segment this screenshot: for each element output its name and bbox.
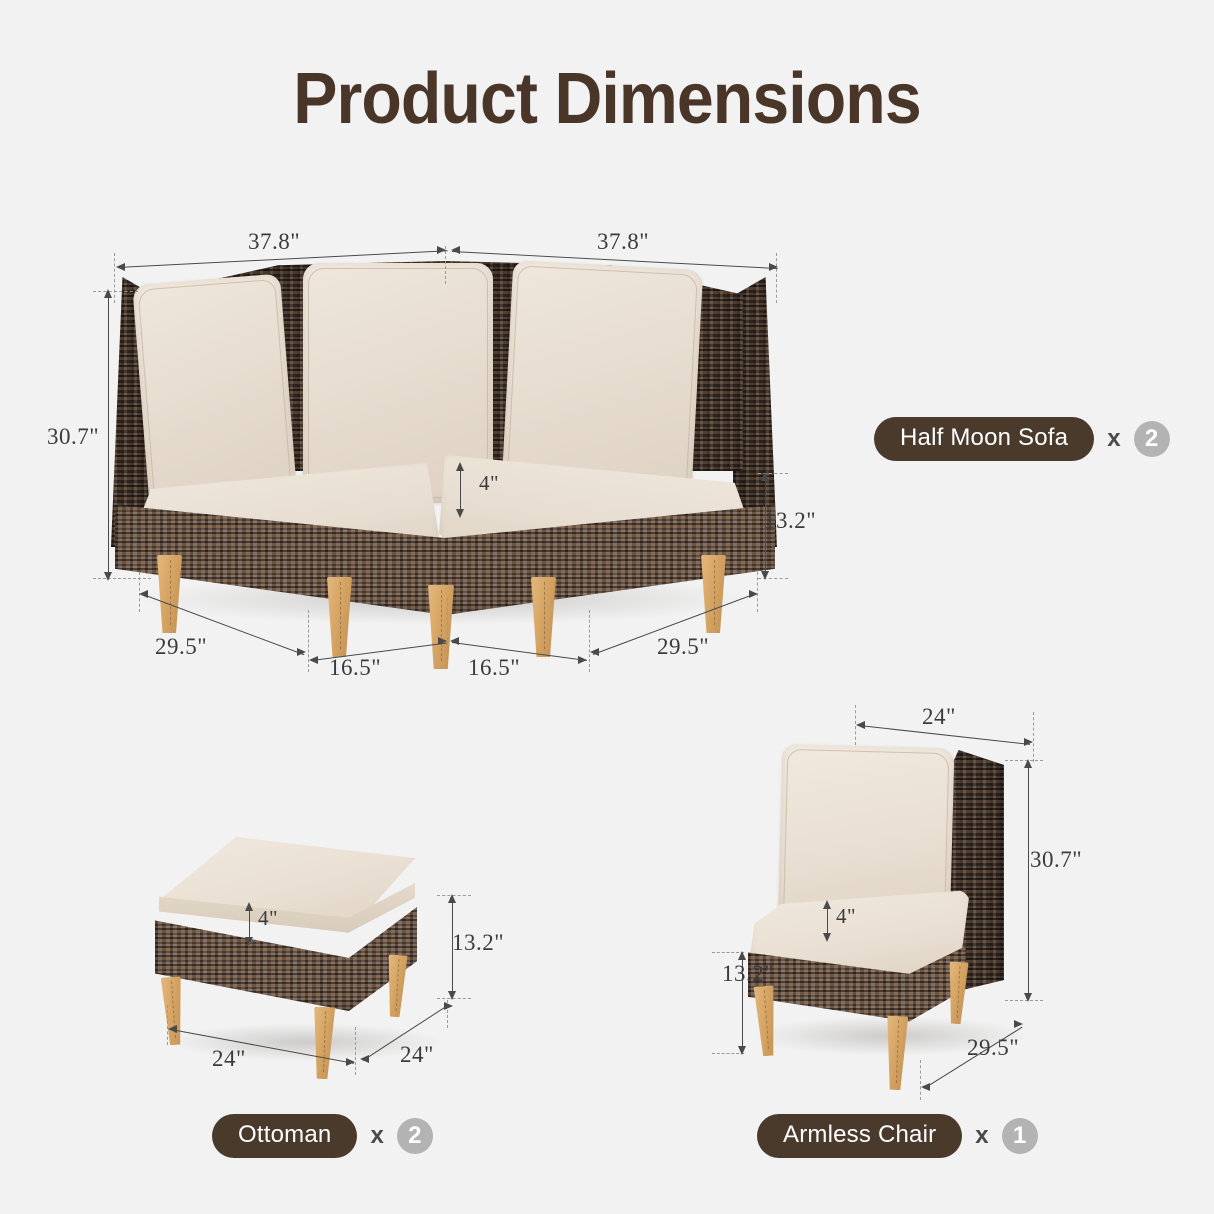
arrow-up — [448, 894, 456, 903]
chair-depth-label: 29.5" — [967, 1035, 1019, 1061]
chair-seat-height-label: 13.2" — [722, 961, 774, 987]
arrow-up — [245, 902, 253, 911]
half-moon-sofa-illustration — [95, 255, 795, 645]
arrow-left — [116, 263, 125, 271]
leg-seam — [340, 582, 341, 649]
ottoman-quantity: 2 — [397, 1118, 433, 1154]
ottoman-name-pill: Ottoman — [212, 1114, 357, 1158]
arrow-left — [360, 1055, 369, 1063]
sofa-height-line — [108, 296, 109, 574]
leg-seam — [544, 582, 545, 649]
arrow-left — [590, 648, 599, 656]
sofa-ext-bottom-inner-right — [589, 610, 590, 672]
arrow-right — [1024, 738, 1033, 746]
arrow-left — [921, 1083, 930, 1091]
sofa-ext-top-right — [776, 253, 777, 303]
arrow-up — [761, 472, 769, 481]
sofa-leg-center-left — [327, 577, 352, 657]
ottoman-cushion-line — [249, 908, 250, 940]
arrow-down — [104, 572, 112, 581]
arrow-up — [1024, 759, 1032, 768]
armless-chair-quantity: 1 — [1002, 1118, 1038, 1154]
arrow-right — [297, 648, 306, 656]
sofa-ext-height-bottom — [93, 578, 151, 579]
infographic-canvas: Product Dimensions — [0, 0, 1214, 1214]
ottoman-ext-center — [355, 1027, 356, 1075]
sofa-inner-right-label: 16.5" — [468, 655, 520, 681]
arrow-right — [346, 1058, 355, 1066]
leg-seam — [322, 1011, 325, 1071]
leg-seam — [895, 1020, 898, 1082]
arrow-up — [823, 900, 831, 909]
arrow-right — [749, 590, 758, 598]
arrow-up — [104, 289, 112, 298]
quantity-x-symbol: x — [370, 1122, 383, 1150]
leg-seam — [441, 590, 442, 661]
sofa-cushion-line — [460, 468, 461, 512]
arrow-left — [451, 246, 460, 254]
sofa-height-label: 30.7" — [47, 424, 99, 450]
arrow-right — [1014, 1020, 1023, 1028]
leg-seam — [764, 990, 769, 1049]
sofa-leg-right — [701, 555, 726, 633]
arrow-right — [444, 1002, 453, 1010]
sofa-leg-left — [157, 555, 182, 633]
arrow-left — [309, 656, 318, 664]
sofa-width-right-label: 37.8" — [597, 229, 649, 255]
ottoman-badge: Ottoman x 2 — [212, 1114, 433, 1158]
half-moon-sofa-badge: Half Moon Sofa x 2 — [874, 417, 1170, 461]
sofa-inner-left-label: 16.5" — [329, 655, 381, 681]
ottoman-width-label: 24" — [212, 1046, 246, 1072]
ottoman-cushion-label: 4" — [258, 906, 278, 931]
sofa-seat-height-label: 13.2" — [764, 508, 816, 534]
quantity-x-symbol: x — [975, 1122, 988, 1150]
ottoman-height-label: 13.2" — [452, 930, 504, 956]
arrow-left — [450, 637, 459, 645]
arrow-right — [437, 246, 446, 254]
half-moon-sofa-quantity: 2 — [1134, 421, 1170, 457]
ottoman-depth-label: 24" — [400, 1042, 434, 1068]
page-title: Product Dimensions — [49, 58, 1166, 140]
chair-height-label: 30.7" — [1030, 847, 1082, 873]
arrow-down — [448, 991, 456, 1000]
arrow-right — [578, 656, 587, 664]
leg-seam — [714, 560, 715, 626]
sofa-cushion-label: 4" — [479, 471, 499, 496]
sofa-leg-center-right — [531, 577, 556, 657]
sofa-width-left-label: 37.8" — [248, 229, 300, 255]
cushion-seam — [138, 279, 293, 509]
sofa-depth-left-label: 29.5" — [155, 634, 207, 660]
arrow-right — [438, 637, 447, 645]
leg-seam — [170, 560, 171, 626]
arrow-right — [769, 263, 778, 271]
sofa-ext-top-left — [114, 253, 115, 303]
arrow-left — [856, 721, 865, 729]
armless-chair-illustration — [740, 728, 1040, 1058]
quantity-x-symbol: x — [1107, 425, 1120, 453]
arrow-down — [738, 1046, 746, 1055]
arrow-up — [738, 951, 746, 960]
arrow-down — [761, 571, 769, 580]
chair-cushion-line — [827, 906, 828, 936]
sofa-ext-bottom-center — [447, 598, 448, 664]
arrow-down — [1024, 993, 1032, 1002]
sofa-depth-right-label: 29.5" — [657, 634, 709, 660]
arrow-up — [456, 462, 464, 471]
chair-ext-top-right — [1033, 712, 1034, 762]
arrow-down — [823, 933, 831, 942]
armless-chair-name-pill: Armless Chair — [757, 1114, 962, 1158]
sofa-leg-center — [428, 585, 454, 669]
leg-seam — [395, 959, 399, 1011]
arrow-down — [456, 509, 464, 518]
chair-cushion-label: 4" — [836, 904, 856, 929]
chair-width-label: 24" — [922, 704, 956, 730]
leg-seam — [956, 966, 960, 1018]
chair-ext-depth-bottom — [920, 1060, 921, 1100]
half-moon-sofa-name-pill: Half Moon Sofa — [874, 417, 1094, 461]
sofa-ext-height-top — [93, 291, 138, 292]
arrow-left — [168, 1025, 177, 1033]
chair-height-line — [1028, 766, 1029, 995]
arrow-left — [139, 590, 148, 598]
armless-chair-badge: Armless Chair x 1 — [757, 1114, 1038, 1158]
arrow-down — [245, 937, 253, 946]
